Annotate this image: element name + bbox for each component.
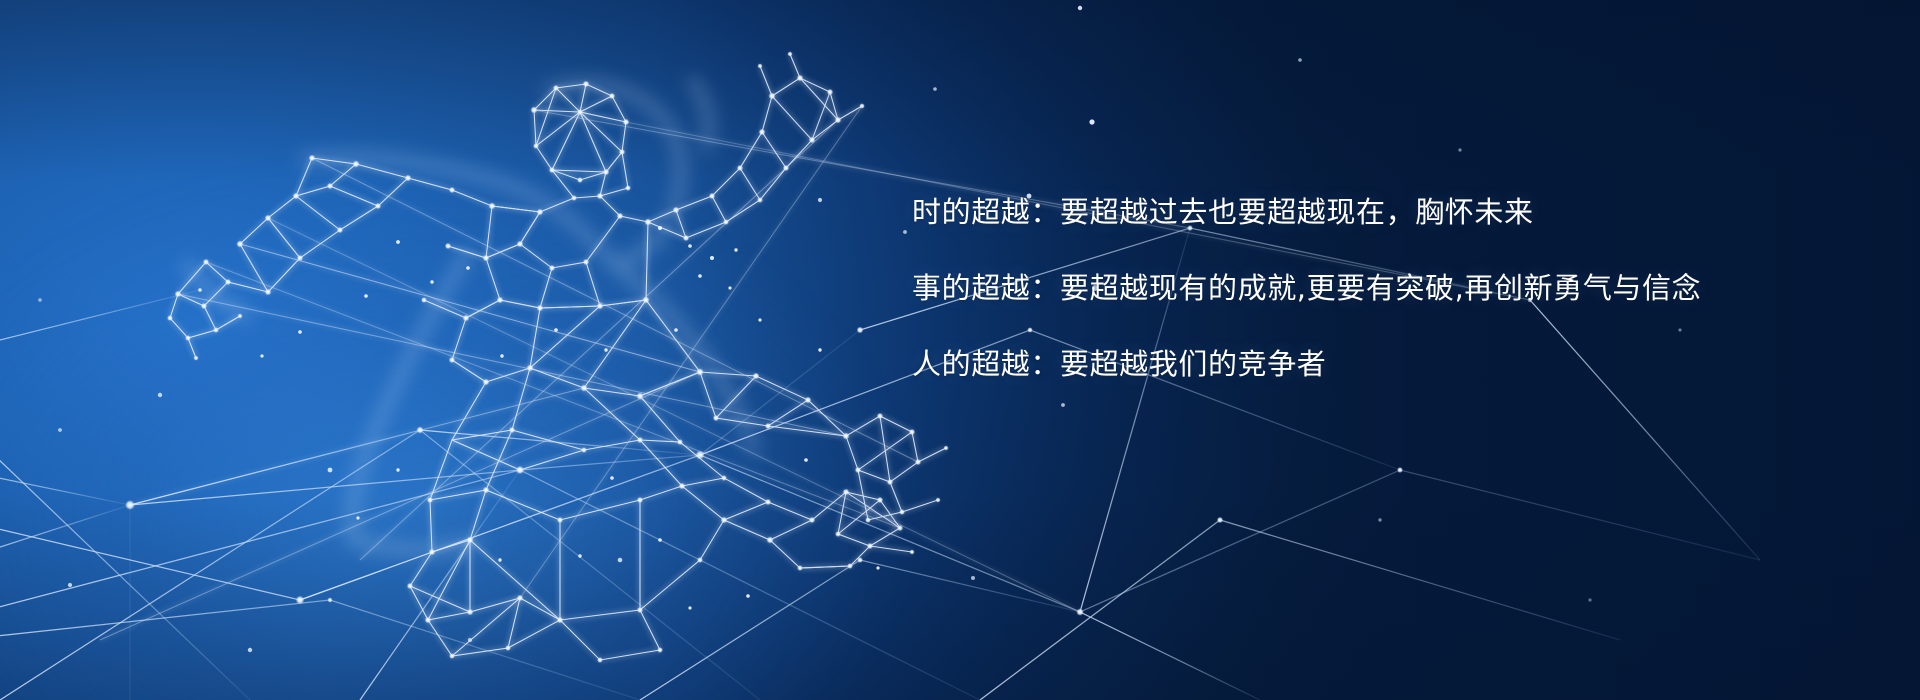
slogan-line-matter: 事的超越：要超越现有的成就,更要有突破,再创新勇气与信念 [912, 274, 1792, 303]
slogan-line-time: 时的超越：要超越过去也要超越现在，胸怀未来 [912, 198, 1792, 227]
slogan-block: 时的超越：要超越过去也要超越现在，胸怀未来 事的超越：要超越现有的成就,更要有突… [912, 198, 1792, 379]
slogan-line-people: 人的超越：要超越我们的竞争者 [912, 350, 1792, 379]
banner-stage: 时的超越：要超越过去也要超越现在，胸怀未来 事的超越：要超越现有的成就,更要有突… [0, 0, 1920, 700]
